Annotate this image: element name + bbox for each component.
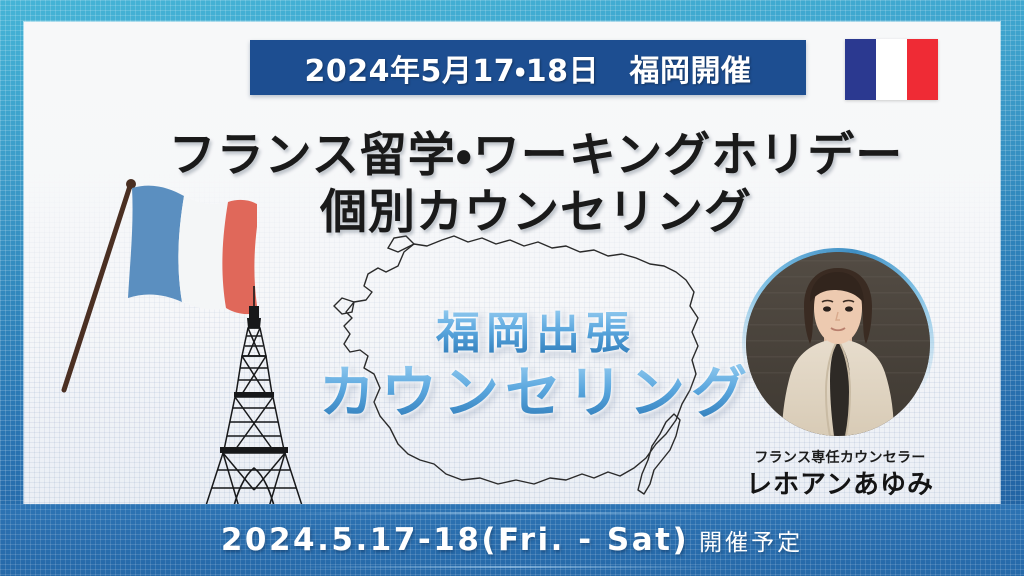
avatar-photo (746, 252, 930, 436)
date-banner: 2024年5月17・18日 福岡開催 (250, 40, 806, 95)
bottom-bar-content: 2024.5.17-18(Fri. - Sat) 開催予定 (221, 522, 803, 558)
counselor-caption: フランス専任カウンセラー レホアンあゆみ (724, 450, 956, 501)
poster-card: フランス留学・ワーキングホリデー 個別カウンセリング 福岡出張 カウンセリング (24, 22, 1000, 554)
bottom-bar-sheen-top (287, 512, 738, 514)
france-flag-icon (845, 39, 938, 100)
flag-band-blue (845, 39, 876, 100)
headline-line-2: 個別カウンセリング (24, 187, 1000, 240)
flag-band-white (876, 39, 907, 100)
bottom-bar-note: 開催予定 (699, 523, 803, 557)
waving-french-flag-icon (42, 162, 257, 422)
france-map-outline-icon (294, 222, 734, 542)
date-banner-text: 2024年5月17・18日 福岡開催 (304, 46, 751, 90)
counselor-role: フランス専任カウンセラー (724, 450, 956, 467)
counselor-avatar (742, 248, 934, 440)
bottom-bar-date: 2024.5.17-18(Fri. - Sat) (221, 522, 689, 558)
eiffel-tower-icon (184, 284, 324, 532)
poster-headline: フランス留学・ワーキングホリデー 個別カウンセリング (24, 130, 1000, 239)
poster-canvas: フランス留学・ワーキングホリデー 個別カウンセリング 福岡出張 カウンセリング (0, 0, 1024, 576)
bottom-bar: 2024.5.17-18(Fri. - Sat) 開催予定 (0, 504, 1024, 576)
flag-band-red (907, 39, 938, 100)
bottom-bar-sheen-bottom (287, 566, 738, 568)
counselor-name: レホアンあゆみ (724, 470, 956, 501)
headline-line-1: フランス留学・ワーキングホリデー (24, 130, 1000, 183)
